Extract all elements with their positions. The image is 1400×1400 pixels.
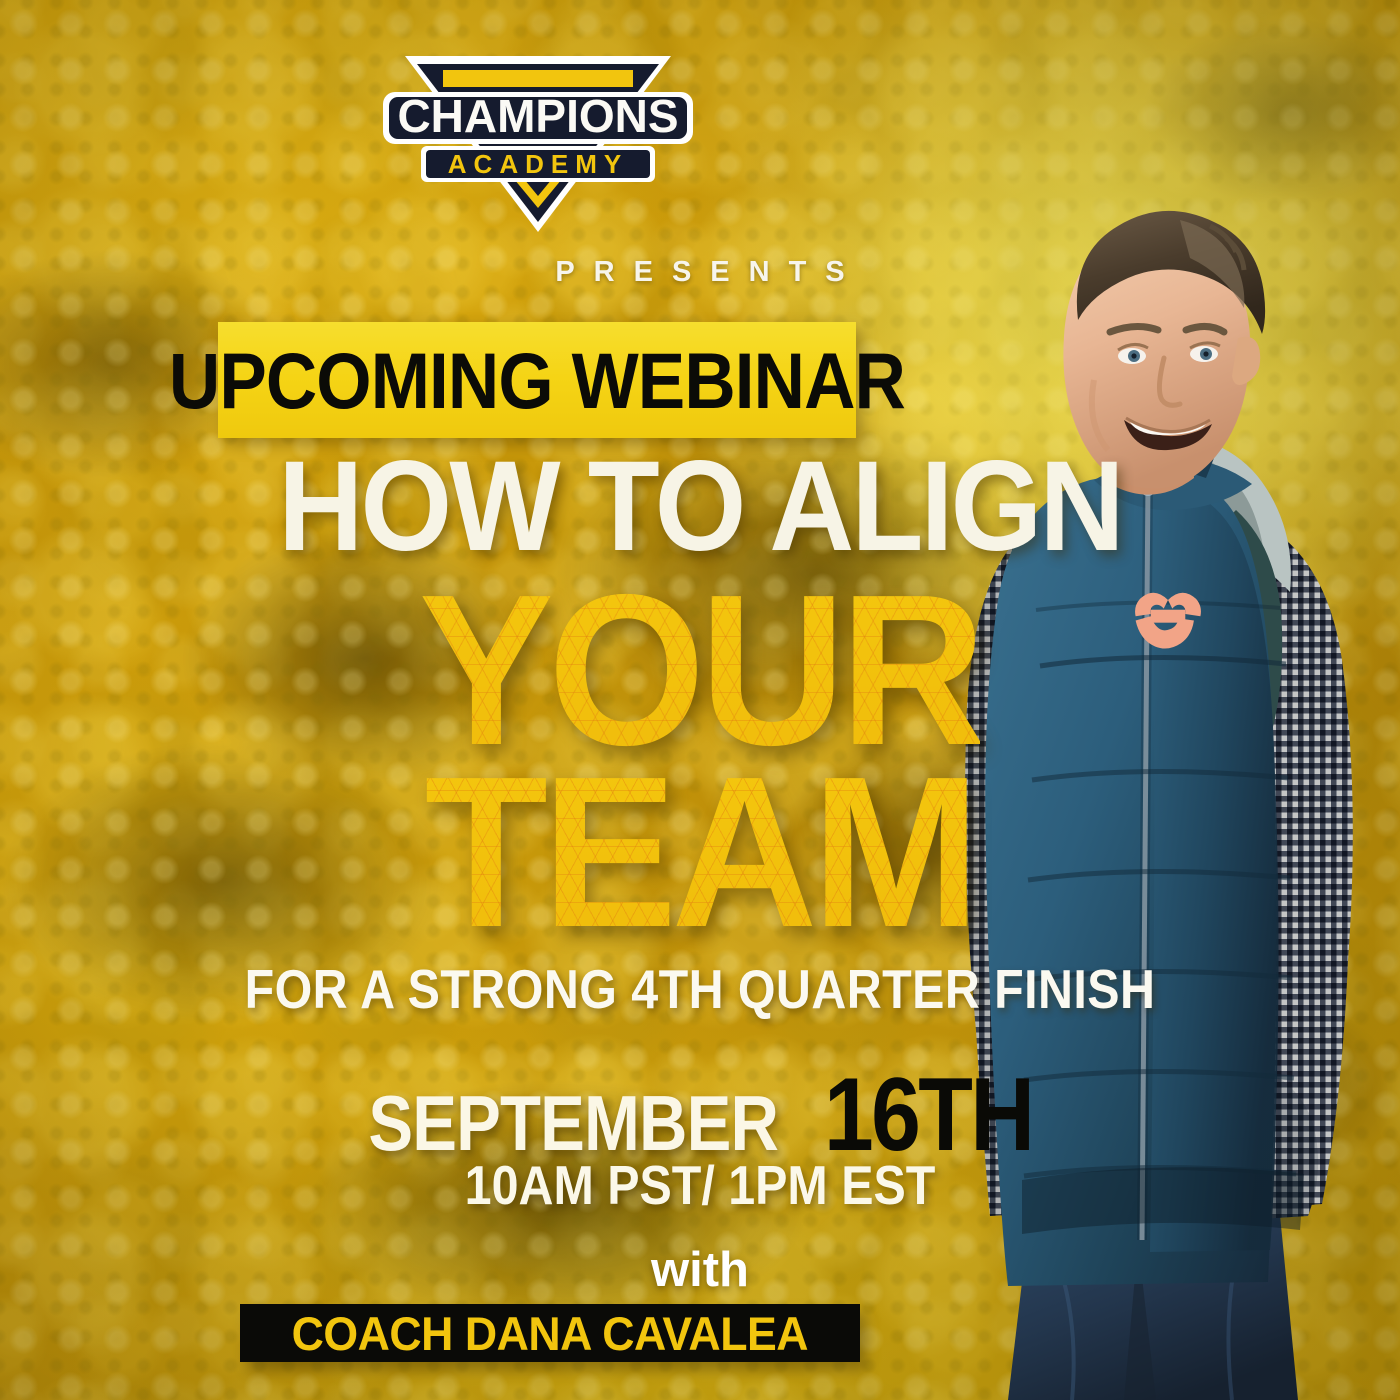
webinar-promo-poster: CHAMPIONS ACADEMY PRESENTS UPCOMING WEBI… [0,0,1400,1400]
headline-line-3-row: TEAM [0,744,1400,959]
presents-label: PRESENTS [0,256,1400,289]
event-day: 16TH [824,1063,1032,1167]
event-month: SEPTEMBER [368,1084,778,1162]
event-date-row: SEPTEMBER 16TH [0,1063,1392,1167]
upcoming-webinar-label: UPCOMING WEBINAR [169,341,905,420]
logo-academy-text: ACADEMY [448,149,628,179]
headline-subline: FOR A STRONG 4TH QUARTER FINISH [84,962,1316,1017]
logo-champions-text: CHAMPIONS [397,90,678,142]
headline-line-3: TEAM [425,744,975,959]
champions-academy-logo: CHAMPIONS ACADEMY [373,50,703,235]
upcoming-webinar-banner: UPCOMING WEBINAR [218,322,856,438]
with-label: with [0,1246,1400,1295]
event-times: 10AM PST/ 1PM EST [84,1158,1316,1213]
speaker-name-bar: COACH DANA CAVALEA [240,1304,860,1362]
speaker-name: COACH DANA CAVALEA [292,1310,808,1357]
